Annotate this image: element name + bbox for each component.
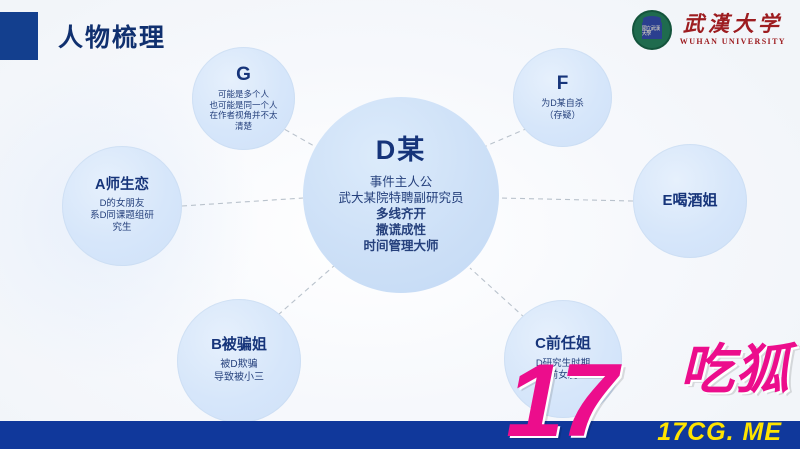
node-g-desc-line: 清楚: [209, 121, 277, 132]
page-title: 人物梳理: [58, 18, 166, 54]
node-f-desc-line: 为D某自杀: [541, 98, 584, 110]
node-f-label: F: [557, 74, 569, 95]
slide-header: 人物梳理: [0, 12, 166, 60]
gate-glyph: 國立武漢大學: [642, 21, 662, 39]
node-b-desc: 被D欺骗 导致被小三: [214, 359, 264, 385]
node-g-desc-line: 可能是多个人: [209, 89, 277, 100]
node-a-desc-line: 究生: [90, 222, 154, 234]
node-g-desc: 可能是多个人 也可能是同一个人 在作者视角并不太 清楚: [209, 89, 277, 133]
node-d-desc-line: 事件主人公: [338, 174, 463, 190]
node-d-desc-line: 时间管理大师: [338, 238, 463, 254]
node-f[interactable]: F 为D某自杀 （存疑）: [513, 48, 612, 147]
node-d[interactable]: D某 事件主人公 武大某院特聘副研究员 多线齐开 撒谎成性 时间管理大师: [303, 97, 499, 293]
node-e-label: E喝酒姐: [662, 193, 717, 210]
node-g-label: G: [236, 65, 251, 86]
node-f-desc: 为D某自杀 （存疑）: [541, 98, 584, 121]
node-d-desc-line: 多线齐开: [338, 206, 463, 222]
node-b-label: B被骗姐: [211, 337, 267, 354]
node-d-label: D某: [376, 136, 427, 166]
node-d-desc-line: 武大某院特聘副研究员: [338, 190, 463, 206]
node-b-desc-line: 被D欺骗: [214, 359, 264, 372]
node-d-desc-line: 撒谎成性: [338, 222, 463, 238]
node-c-desc: D研究生时期 前女友: [536, 358, 590, 382]
node-c-desc-line: 前女友: [536, 370, 590, 382]
node-a-label: A师生恋: [95, 178, 149, 194]
node-a-desc-line: D的女朋友: [90, 198, 154, 210]
emblem-inner-text: 國立武漢大學: [642, 27, 662, 37]
wuhan-university-logo: 國立武漢大學 武漢大学 WUHAN UNIVERSITY: [632, 10, 786, 50]
node-c-label: C前任姐: [535, 336, 591, 353]
logo-name-en: WUHAN UNIVERSITY: [680, 38, 786, 46]
node-d-desc: 事件主人公 武大某院特聘副研究员 多线齐开 撒谎成性 时间管理大师: [338, 174, 463, 254]
node-g-desc-line: 在作者视角并不太: [209, 110, 277, 121]
logo-name-cn: 武漢大学: [683, 14, 783, 35]
node-c[interactable]: C前任姐 D研究生时期 前女友: [504, 300, 622, 418]
node-b[interactable]: B被骗姐 被D欺骗 导致被小三: [177, 299, 301, 423]
logo-wordmark: 武漢大学 WUHAN UNIVERSITY: [680, 14, 786, 46]
node-a-desc: D的女朋友 系D同课题组研 究生: [90, 198, 154, 234]
node-c-desc-line: D研究生时期: [536, 358, 590, 370]
bottom-accent-bar: [0, 421, 800, 449]
slide-canvas: 人物梳理 國立武漢大學 武漢大学 WUHAN UNIVERSITY D某 事件主…: [0, 0, 800, 449]
node-e[interactable]: E喝酒姐: [633, 144, 747, 258]
node-g-desc-line: 也可能是同一个人: [209, 100, 277, 111]
node-g[interactable]: G 可能是多个人 也可能是同一个人 在作者视角并不太 清楚: [192, 47, 295, 150]
node-a[interactable]: A师生恋 D的女朋友 系D同课题组研 究生: [62, 146, 182, 266]
node-a-desc-line: 系D同课题组研: [90, 210, 154, 222]
university-emblem-icon: 國立武漢大學: [632, 10, 672, 50]
node-f-desc-line: （存疑）: [541, 110, 584, 122]
title-accent-square: [0, 12, 38, 60]
node-b-desc-line: 导致被小三: [214, 372, 264, 385]
